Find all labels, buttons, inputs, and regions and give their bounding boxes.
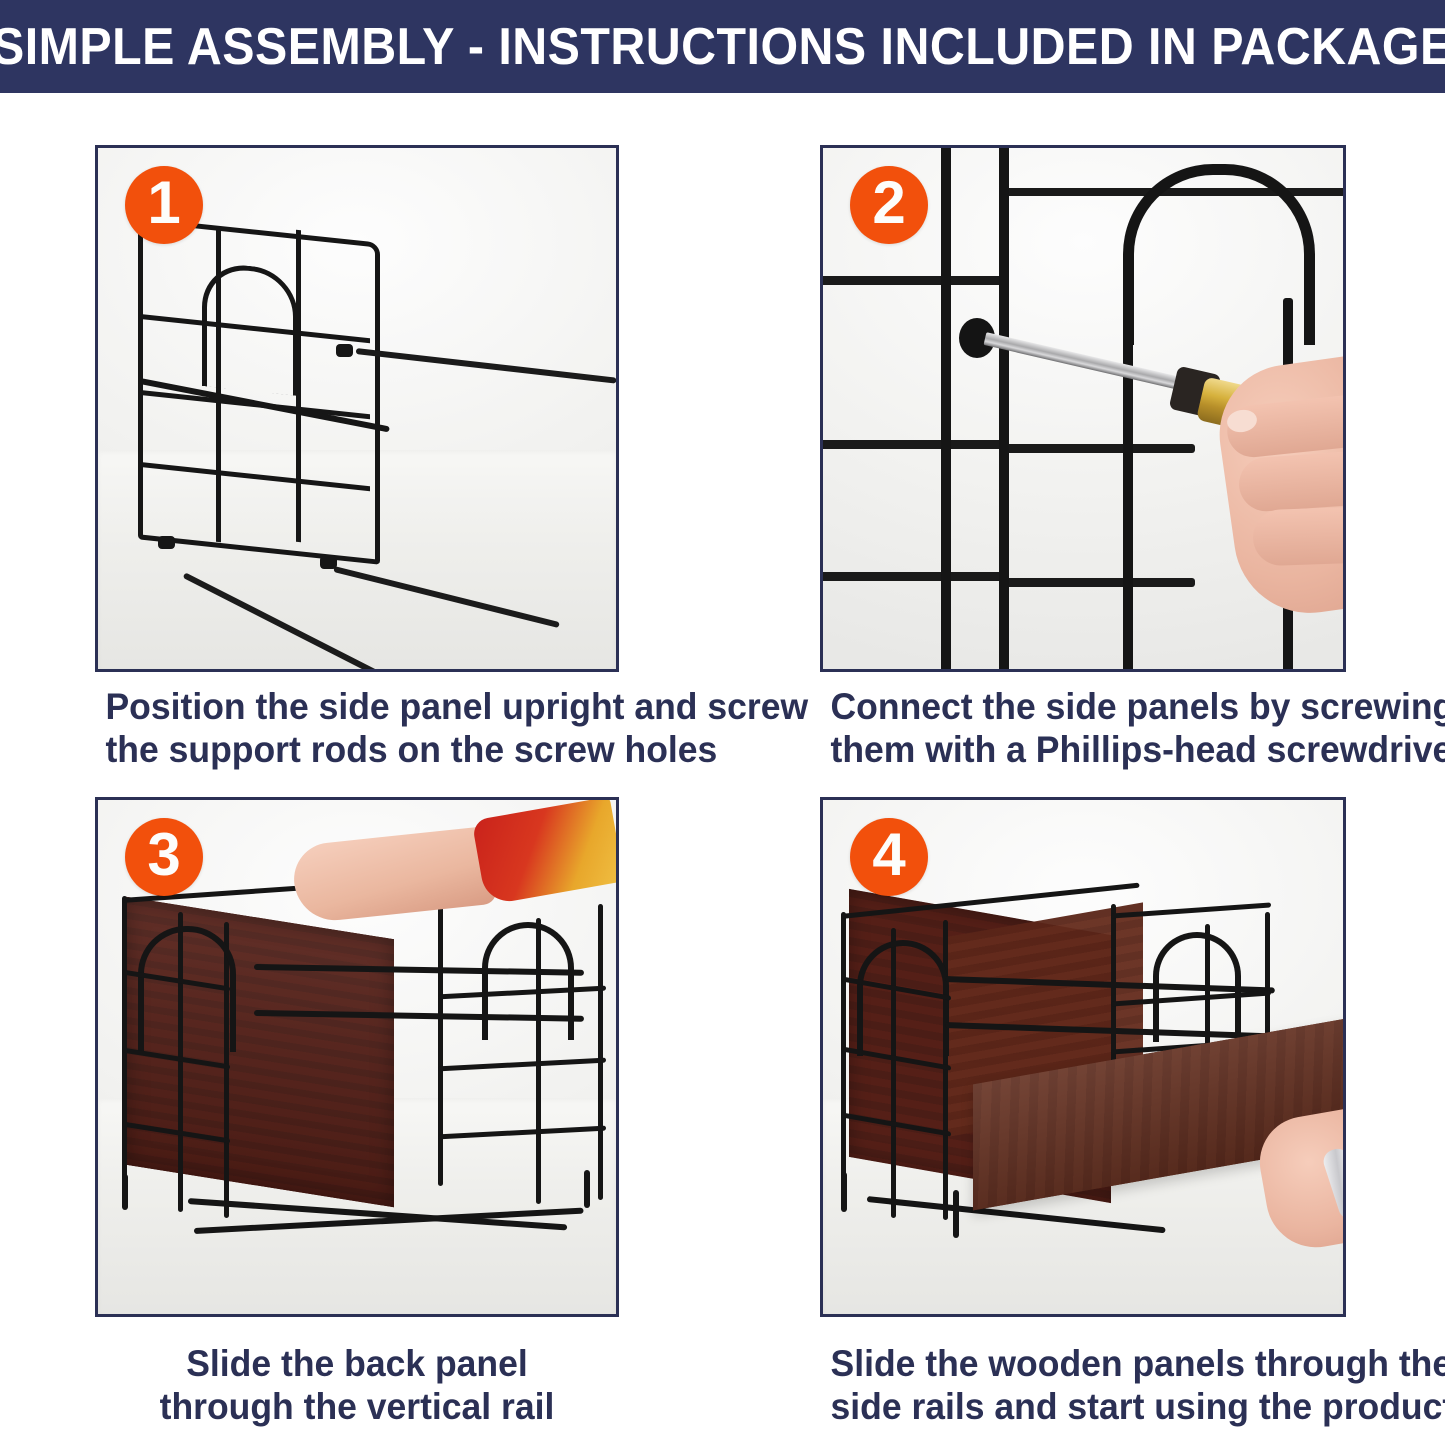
step-3-photo: 3 bbox=[95, 797, 619, 1317]
step-2-caption-line-1: Connect the side panels by screwing bbox=[831, 686, 1336, 729]
step-4-photo: 4 bbox=[820, 797, 1346, 1317]
step-number-badge-2: 2 bbox=[850, 166, 928, 244]
step-2-caption: Connect the side panels by screwing them… bbox=[831, 686, 1336, 772]
assembly-step-2: 2 Connect the side panels by screwing th… bbox=[820, 145, 1346, 728]
step-1-caption-line-2: the support rods on the screw holes bbox=[105, 729, 608, 772]
assembly-step-1: 1 Position the side panel upright and sc… bbox=[95, 145, 619, 728]
step-1-caption-line-1: Position the side panel upright and scre… bbox=[105, 686, 608, 729]
assembly-step-4: 4 Slide the wooden panels through the si… bbox=[820, 797, 1346, 1425]
step-number-1: 1 bbox=[147, 173, 180, 233]
step-number-badge-4: 4 bbox=[850, 818, 928, 896]
banner-title: SIMPLE ASSEMBLY - INSTRUCTIONS INCLUDED … bbox=[0, 17, 1445, 77]
step-2-photo: 2 bbox=[820, 145, 1346, 672]
step-3-caption-line-2: through the vertical rail bbox=[105, 1386, 608, 1429]
step-1-caption: Position the side panel upright and scre… bbox=[105, 686, 608, 772]
step-3-caption-line-1: Slide the back panel bbox=[105, 1343, 608, 1386]
assembly-step-3: 3 Slide the back panel through the verti… bbox=[95, 797, 619, 1425]
step-2-caption-line-2: them with a Phillips-head screwdriver bbox=[831, 729, 1336, 772]
step-number-badge-3: 3 bbox=[125, 818, 203, 896]
step-number-3: 3 bbox=[147, 825, 180, 885]
step-3-caption: Slide the back panel through the vertica… bbox=[105, 1343, 608, 1429]
step-4-caption-line-1: Slide the wooden panels through the bbox=[831, 1343, 1336, 1386]
step-4-caption: Slide the wooden panels through the side… bbox=[831, 1343, 1336, 1429]
step-1-photo: 1 bbox=[95, 145, 619, 672]
step-number-4: 4 bbox=[872, 825, 905, 885]
step-4-caption-line-2: side rails and start using the product bbox=[831, 1386, 1336, 1429]
step-number-2: 2 bbox=[872, 173, 905, 233]
step-number-badge-1: 1 bbox=[125, 166, 203, 244]
header-banner: SIMPLE ASSEMBLY - INSTRUCTIONS INCLUDED … bbox=[0, 0, 1445, 93]
assembly-steps-grid: 1 Position the side panel upright and sc… bbox=[0, 93, 1445, 1436]
